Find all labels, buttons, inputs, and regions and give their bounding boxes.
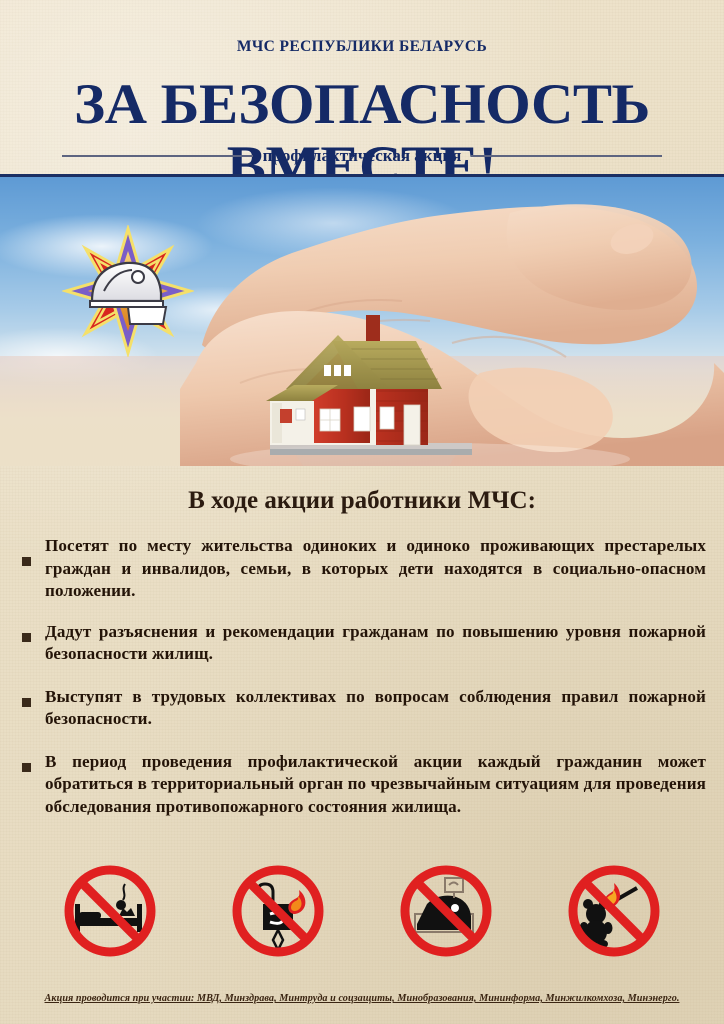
footer-participants-note: Акция проводится при участии: МВД, Минзд… (0, 993, 724, 1004)
list-item: В период проведения профилактической акц… (22, 751, 706, 819)
subtitle: профилактическая акция (259, 146, 466, 166)
subtitle-row: профилактическая акция (62, 146, 662, 166)
hands-with-house-illustration (180, 177, 724, 466)
mchs-star-emblem-icon (62, 225, 194, 357)
hero-photo (0, 174, 724, 466)
list-item: Выступят в трудовых коллективах по вопро… (22, 686, 706, 731)
bullet-speak-text: Выступят в трудовых коллективах по вопро… (45, 686, 706, 731)
no-children-with-matches-icon (561, 858, 667, 964)
bullet-square-icon (22, 557, 31, 566)
bullet-apply-text: В период проведения профилактической акц… (45, 751, 706, 819)
bullet-explain-text: Дадут разъяснения и рекомендации граждан… (45, 621, 706, 666)
bullet-visit-text: Посетят по месту жительства одиноких и о… (45, 535, 706, 603)
list-item: Посетят по месту жительства одиноких и о… (22, 535, 706, 603)
measures-list: Посетят по месту жительства одиноких и о… (22, 535, 706, 834)
ministry-line: МЧС РЕСПУБЛИКИ БЕЛАРУСЬ (0, 38, 724, 56)
rule-right (471, 155, 662, 157)
no-smoking-in-bed-icon (57, 858, 163, 964)
bullet-square-icon (22, 763, 31, 772)
no-faulty-wiring-icon (225, 858, 331, 964)
poster-root: МЧС РЕСПУБЛИКИ БЕЛАРУСЬ ЗА БЕЗОПАСНОСТЬ … (0, 0, 724, 1024)
section-heading: В ходе акции работники МЧС: (0, 487, 724, 515)
rule-left (62, 155, 253, 157)
list-item: Дадут разъяснения и рекомендации граждан… (22, 621, 706, 666)
prohibition-icon-row (0, 858, 724, 964)
bullet-square-icon (22, 633, 31, 642)
bullet-square-icon (22, 698, 31, 707)
no-unattended-iron-icon (393, 858, 499, 964)
